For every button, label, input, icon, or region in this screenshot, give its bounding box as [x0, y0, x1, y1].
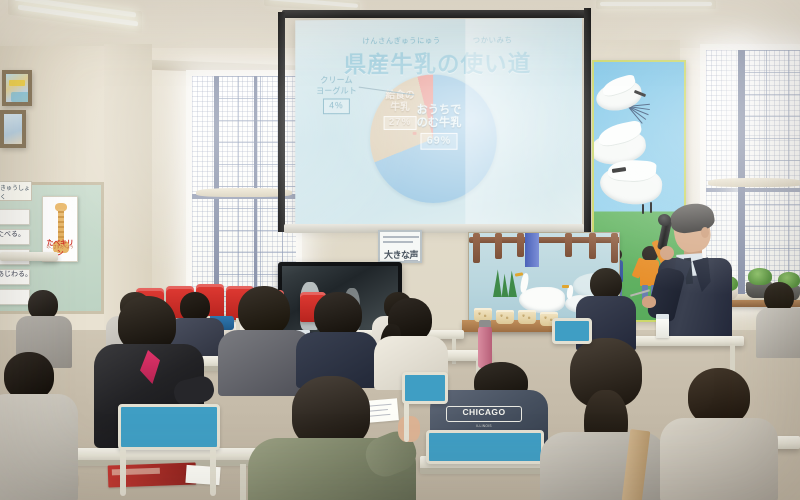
fence-post [565, 233, 572, 257]
pie-label-lunch: 給食の 牛乳 27% [378, 90, 423, 129]
student-torso [660, 418, 778, 500]
whiteboard-text-line [383, 236, 419, 238]
whiteboard-text-line [383, 241, 413, 243]
desk [0, 252, 58, 261]
milk-carton-top [656, 314, 669, 319]
slide-content: けんさんぎゅうにゅう つかいみち 県産牛乳の使い道 おうちで のむ牛乳 69% … [295, 18, 582, 230]
mural-reeds [493, 267, 517, 297]
desk-leg [240, 464, 246, 500]
basket-contents [520, 312, 534, 321]
artwork-canvas [4, 114, 22, 144]
fence-rail [469, 237, 620, 243]
presenter-ear [701, 227, 709, 238]
presenter-hand [642, 296, 656, 308]
word-card[interactable] [0, 209, 30, 225]
slide-title-block: けんさんぎゅうにゅう つかいみち 県産牛乳の使い道 [295, 34, 582, 79]
pie-label-cream: クリーム ヨーグルト 4% [303, 75, 370, 114]
student-torso [0, 394, 78, 500]
student-head [238, 286, 290, 336]
window-blind [708, 178, 800, 187]
projection-screen-assembly: けんさんぎゅうにゅう つかいみち 県産牛乳の使い道 おうちで のむ牛乳 69% … [288, 18, 582, 230]
student-back-6 [756, 282, 800, 356]
mini-whiteboard: 大きな声で [378, 230, 422, 263]
word-card[interactable]: あじわる。 [0, 269, 30, 285]
basket-contents [498, 312, 512, 321]
water-bottle[interactable] [478, 326, 492, 368]
student-mid-right [296, 292, 382, 388]
word-card[interactable]: たべる。 [0, 229, 30, 245]
fence-post [473, 233, 480, 263]
pie-label-cream-line2: ヨーグルト [303, 85, 370, 96]
fluorescent-tube [600, 2, 712, 6]
artwork-shape [9, 80, 25, 86]
fence-post [495, 233, 502, 259]
classroom-photo: きゅうしょく たべる。 あじわる。 のこさずたべよう たべキリン [0, 0, 800, 500]
basket-contents [476, 310, 490, 319]
projection-screen: けんさんぎゅうにゅう つかいみち 県産牛乳の使い道 おうちで のむ牛乳 69% … [295, 18, 582, 230]
whiteboard-text-line [404, 260, 418, 262]
student-hand [398, 416, 420, 442]
screen-support-post [584, 8, 591, 236]
chair-backrest[interactable] [552, 318, 592, 344]
hoodie-print-illinois: ILLINOIS [446, 424, 522, 428]
chair-backrest[interactable] [426, 430, 544, 464]
book-band [112, 468, 160, 476]
student-front-ponytail-right [540, 338, 668, 500]
framed-artwork [0, 110, 26, 148]
fence-post [611, 233, 618, 263]
hoodie-print-chicago: CHICAGO [446, 406, 522, 422]
pie-label-cream-line1: クリーム [303, 75, 370, 86]
window-mullion [706, 188, 740, 192]
window-mullion [744, 188, 800, 192]
screen-support-post [278, 12, 285, 232]
pie-value-lunch: 27% [384, 116, 416, 129]
pie-label-lunch-line2: 牛乳 [378, 102, 423, 113]
fence-post [589, 233, 596, 259]
chair-frame [210, 448, 216, 496]
student-head [4, 352, 54, 400]
chair-backrest[interactable] [118, 404, 220, 450]
swan-beak [562, 285, 569, 288]
chair-frame [120, 448, 126, 496]
milk-carton[interactable] [656, 318, 669, 338]
student-front-olive-sweater [248, 376, 418, 500]
mural-blue-band [525, 233, 539, 267]
student-torso [756, 308, 800, 358]
food-basket [496, 310, 514, 324]
noticeboard-header: きゅうしょく [0, 181, 32, 201]
bottle-cap [479, 320, 491, 327]
screen-top-rail [282, 10, 588, 18]
furigana-tsukaimichi: つかいみち [473, 35, 513, 44]
framed-artwork [2, 70, 32, 106]
chair-frame [404, 402, 409, 442]
presenter-hand [660, 246, 674, 260]
student-front-right [660, 368, 780, 500]
chair-backrest[interactable] [402, 372, 448, 404]
pie-value-cream: 4% [323, 99, 349, 114]
artwork-shape [11, 92, 31, 102]
food-basket [518, 310, 536, 324]
pie-value-home: 69% [421, 133, 457, 150]
student-front-left [0, 352, 82, 500]
fence-post [517, 233, 524, 257]
